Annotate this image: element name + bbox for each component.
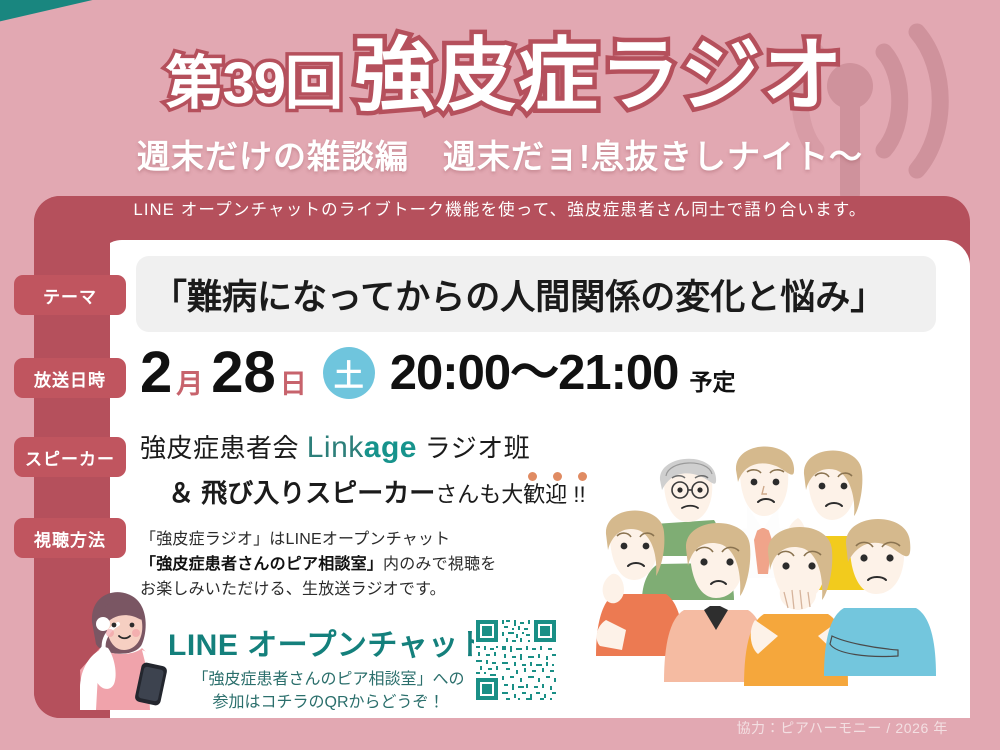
- dot-2: [553, 472, 562, 481]
- day-unit: 日: [280, 371, 307, 398]
- badge-speaker: スピーカー: [14, 437, 126, 477]
- speaker-org: 強皮症患者会: [140, 433, 299, 463]
- openchat-sub-line-1: 「強皮症患者さんのピア相談室」への: [193, 671, 465, 688]
- month-unit: 月: [176, 371, 203, 398]
- badge-theme: テーマ: [14, 275, 126, 315]
- episode-number: 第39回: [166, 55, 343, 113]
- worried-people-group-icon: [592, 424, 960, 712]
- qr-code-icon[interactable]: [474, 618, 558, 702]
- weekday-badge: 土: [323, 347, 375, 399]
- title-line: 第39回 強皮症ラジオ: [10, 36, 1000, 116]
- speaker-guest-bold: ＆ 飛び入りスピーカー: [168, 478, 435, 508]
- theme-pill: 「難病になってからの人間関係の変化と悩み」: [136, 256, 936, 332]
- speaker-line-1: 強皮症患者会 Linkage ラジオ班: [140, 428, 586, 465]
- openchat-title: LINE オープンチャット: [168, 620, 489, 664]
- page-title: 強皮症ラジオ: [354, 36, 844, 116]
- linkage-link-part: Link: [307, 431, 364, 464]
- watch-method-row: 「強皮症ラジオ」はLINEオープンチャット 「強皮症患者さんのピア相談室」内のみ…: [140, 528, 560, 602]
- watch-line-2: 「強皮症患者さんのピア相談室」内のみで視聴を: [140, 553, 560, 578]
- speaker-team: ラジオ班: [425, 433, 530, 463]
- decorative-dots: [528, 472, 587, 481]
- linkage-age-part: age: [364, 431, 417, 464]
- speaker-line-2: ＆ 飛び入りスピーカーさんも大歓迎 !!: [168, 473, 586, 510]
- watch-room-name: 「強皮症患者さんのピア相談室」: [140, 556, 383, 573]
- subtitle: 週末だけの雑談編 週末だョ!息抜きしナイト～: [0, 130, 1000, 178]
- woman-with-phone-icon: [62, 578, 182, 710]
- openchat-block: LINE オープンチャット 「強皮症患者さんのピア相談室」への 参加はコチラのQ…: [168, 620, 489, 714]
- dot-1: [528, 472, 537, 481]
- watch-line-1: 「強皮症ラジオ」はLINEオープンチャット: [140, 528, 560, 553]
- openchat-sub-line-2: 参加はコチラのQRからどうぞ！: [213, 694, 445, 711]
- speaker-guest-thin: さんも大歓迎 !!: [435, 482, 585, 507]
- dot-3: [578, 472, 587, 481]
- openchat-sub: 「強皮症患者さんのピア相談室」への 参加はコチラのQRからどうぞ！: [168, 668, 489, 714]
- badge-datetime: 放送日時: [14, 358, 126, 398]
- time-note: 予定: [689, 363, 735, 397]
- month-value: 2: [140, 344, 172, 402]
- watch-line-3: お楽しみいただける、生放送ラジオです。: [140, 578, 560, 603]
- watch-line-2-rest: 内のみで視聴を: [383, 556, 496, 573]
- lead-description: LINE オープンチャットのライブトーク機能を使って、強皮症患者さん同士で語り合…: [0, 196, 1000, 220]
- poster-root: LinkagePresents 第39回 強皮症ラジオ 週末だけの雑談編 週末だ…: [0, 0, 1000, 750]
- broadcast-time: 20:00～21:00: [390, 349, 679, 398]
- badge-watch-method: 視聴方法: [14, 518, 126, 558]
- credit-text: 協力：ピアハーモニー / 2026 年: [736, 718, 948, 738]
- theme-text: 「難病になってからの人間関係の変化と悩み」: [152, 269, 885, 320]
- day-value: 28: [211, 344, 276, 402]
- poster-header: 第39回 強皮症ラジオ 週末だけの雑談編 週末だョ!息抜きしナイト～ LINE …: [0, 0, 1000, 220]
- speaker-row: 強皮症患者会 Linkage ラジオ班 ＆ 飛び入りスピーカーさんも大歓迎 !!: [140, 428, 586, 510]
- datetime-row: 2 月 28 日 土 20:00～21:00 予定: [140, 344, 735, 402]
